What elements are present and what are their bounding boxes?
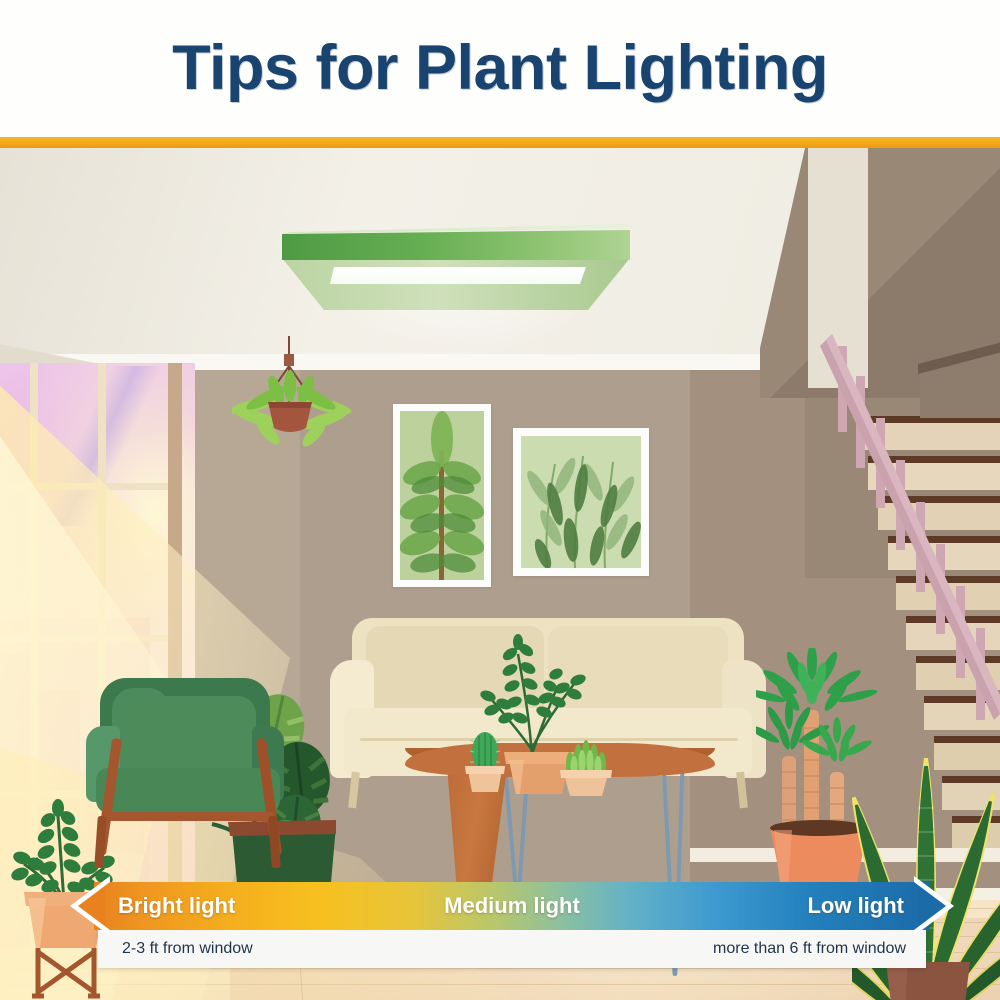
botanical-print-grass bbox=[513, 428, 649, 576]
zone-label-low: Low light bbox=[807, 882, 904, 930]
distance-label-bright: 2-3 ft from window bbox=[122, 930, 253, 968]
botanical-print-leaf bbox=[393, 404, 491, 587]
grow-light-top bbox=[282, 230, 630, 260]
grow-light-body bbox=[282, 258, 630, 310]
tabletop-succulent bbox=[556, 740, 616, 798]
armchair-seat bbox=[96, 768, 280, 814]
page-title: Tips for Plant Lighting bbox=[172, 37, 828, 100]
header: Tips for Plant Lighting bbox=[0, 0, 1000, 137]
room-illustration bbox=[0, 148, 1000, 1000]
armchair-stretcher bbox=[104, 812, 274, 821]
accent-bar bbox=[0, 137, 1000, 148]
print-leaf-art bbox=[400, 411, 484, 580]
distance-label-low: more than 6 ft from window bbox=[713, 930, 906, 968]
light-level-legend: 2-3 ft from window more than 6 ft from w… bbox=[76, 882, 948, 968]
hanging-spider-plant bbox=[232, 336, 362, 466]
legend-distance-panel: 2-3 ft from window more than 6 ft from w… bbox=[98, 930, 926, 968]
light-gradient-arrow: Bright light Medium light Low light bbox=[76, 882, 948, 930]
tabletop-cactus bbox=[462, 728, 508, 794]
grow-light-tube bbox=[330, 267, 586, 284]
print-grass-art bbox=[521, 436, 641, 568]
infographic-page: Tips for Plant Lighting bbox=[0, 0, 1000, 1000]
